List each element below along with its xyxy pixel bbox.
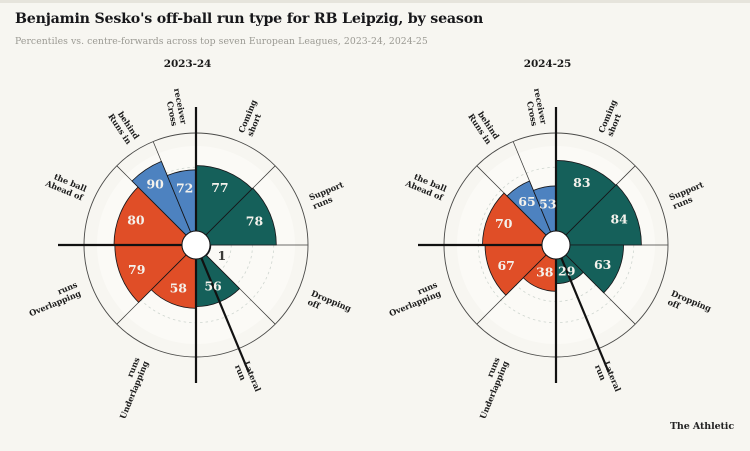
segment-value: 53 [539, 196, 556, 211]
segment-value: 58 [170, 280, 188, 295]
center-hub [182, 231, 210, 259]
segment-value: 78 [246, 213, 264, 228]
segment-value: 77 [211, 180, 228, 195]
segment-value: 38 [536, 265, 554, 280]
segment-value: 72 [176, 180, 193, 195]
segment-value: 80 [127, 213, 145, 228]
chart-canvas: Benjamin Sesko's off-ball run type for R… [0, 0, 750, 451]
segment-value: 67 [497, 258, 514, 273]
axis-label: Overlapping [28, 288, 83, 318]
segment-value: 90 [146, 176, 164, 191]
radial-chart-svg-left: 77781565879809072ComingshortSupportrunsD… [0, 0, 375, 451]
segment-value: 70 [495, 216, 513, 231]
center-hub [542, 231, 570, 259]
segment-value: 79 [128, 262, 145, 277]
segment-value: 63 [594, 257, 611, 272]
radial-chart-svg-right: 838463293867706553ComingshortSupportruns… [360, 0, 735, 451]
segment-value: 56 [204, 279, 222, 294]
segment-value: 29 [558, 263, 575, 278]
attribution: The Athletic [670, 421, 734, 432]
segment-value: 83 [573, 175, 590, 190]
segment-value: 84 [610, 211, 628, 226]
segment-value: 1 [218, 248, 227, 263]
segment-value: 65 [518, 194, 535, 209]
radial-chart-2023-24: 2023-24 77781565879809072ComingshortSupp… [0, 0, 375, 451]
axis-label: Overlapping [388, 288, 443, 318]
radial-chart-2024-25: 2024-25 838463293867706553ComingshortSup… [360, 0, 735, 451]
